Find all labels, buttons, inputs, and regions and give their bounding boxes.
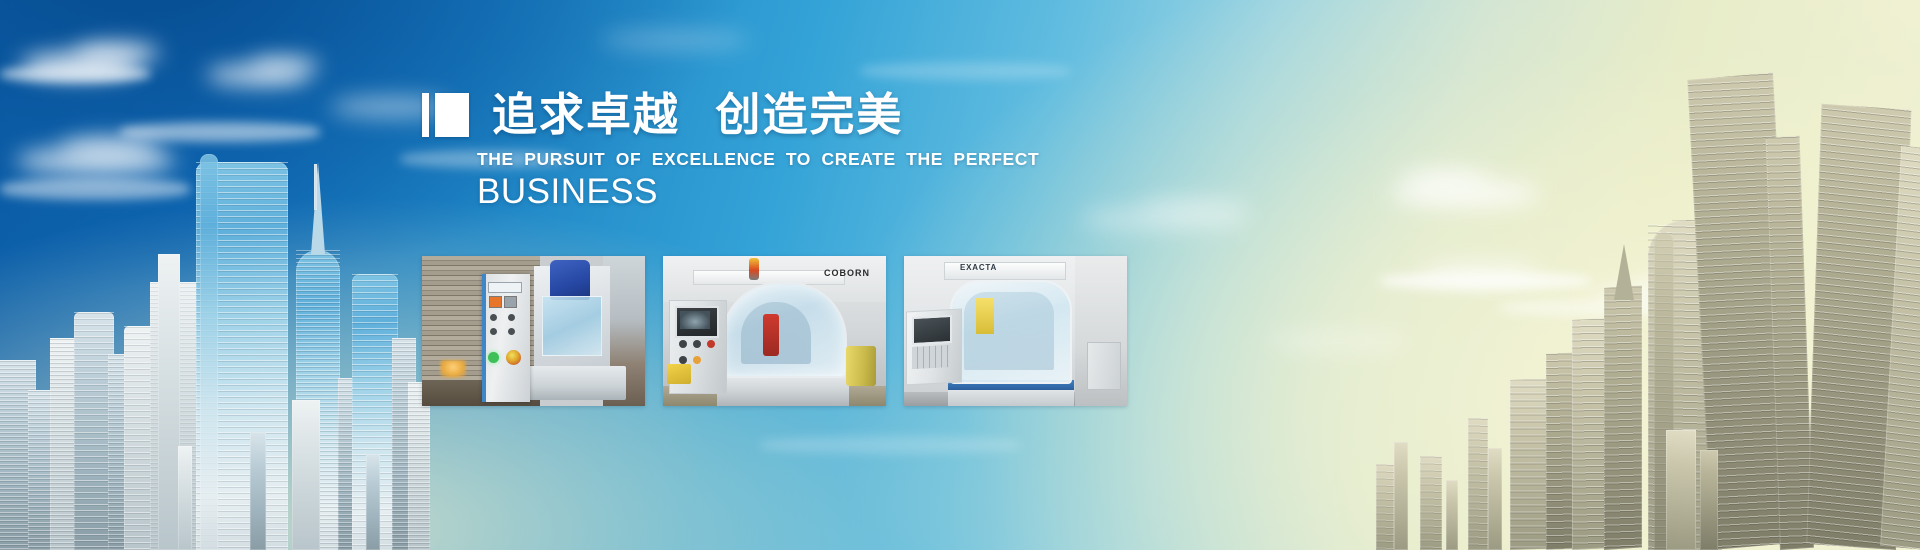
photo-exacta-machine[interactable]: EXACTA [904, 256, 1127, 406]
logo-bar-icon [422, 93, 429, 137]
headline-row: 追求卓越 创造完美 [422, 92, 903, 137]
subtitle-english: THE PURSUIT OF EXCELLENCE TO CREATE THE … [477, 149, 1039, 170]
photo-brand-label-coborn: COBORN [824, 268, 870, 278]
logo-square-icon [435, 93, 469, 137]
machine-photo-strip: COBORN [422, 256, 1127, 406]
photo-brand-label-exacta: EXACTA [960, 263, 997, 272]
banner-content: 追求卓越 创造完美 THE PURSUIT OF EXCELLENCE TO C… [0, 0, 1920, 550]
headline-chinese: 追求卓越 创造完美 [492, 92, 903, 137]
business-word: BUSINESS [477, 171, 658, 213]
photo-edm-drilling-machine[interactable] [422, 256, 645, 406]
brand-logo-mark [422, 93, 469, 137]
photo-coborn-grinding-machine[interactable]: COBORN [663, 256, 886, 406]
hero-banner: 追求卓越 创造完美 THE PURSUIT OF EXCELLENCE TO C… [0, 0, 1920, 550]
